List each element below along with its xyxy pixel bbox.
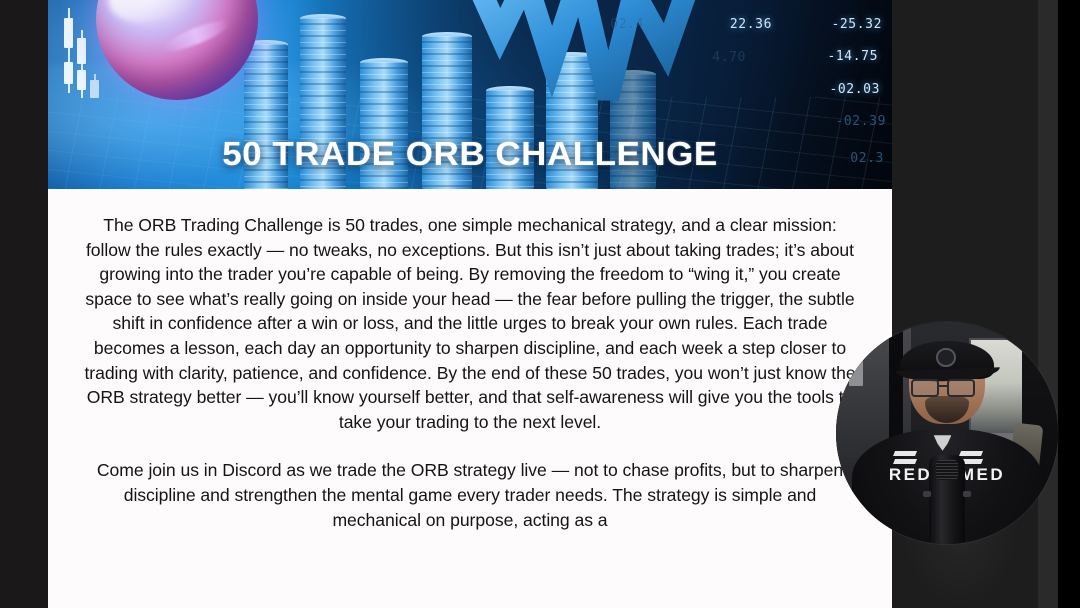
webcam-bubble[interactable]: REDEEMED [836,322,1058,544]
ticker-value: 4.70 [712,50,746,65]
banner-title: 50 TRADE ORB CHALLENGE [48,135,892,173]
paragraph-discord: Come join us in Discord as we trade the … [82,458,858,532]
microphone-knob [963,491,972,498]
ticker-value: -02.03 [829,82,880,97]
document-body: The ORB Trading Challenge is 50 trades, … [48,189,892,532]
ticker-value: 02.4 [610,17,644,32]
webcam-shelf-object [849,355,862,386]
hero-banner: -25.32 -14.75 -02.03 -02.39 02.3 22.36 0… [48,0,892,189]
paragraph-intro: The ORB Trading Challenge is 50 trades, … [82,213,858,434]
webcam-glasses-bridge [939,385,948,387]
webcam-shirt-stripe [893,459,917,464]
ticker-value: 22.36 [730,17,772,32]
document-page: -25.32 -14.75 -02.03 -02.39 02.3 22.36 0… [48,0,892,608]
microphone-grille [936,460,958,480]
desktop-right-black [1058,0,1080,608]
webcam-glasses-right-lens [947,379,975,398]
ticker-value: -25.32 [831,17,882,32]
microphone-knob [923,491,932,498]
ticker-value: -14.75 [827,49,878,64]
webcam-shirt-stripe [959,451,983,456]
ticker-value: -02.39 [835,114,886,129]
webcam-glasses-left-lens [911,379,939,398]
webcam-shirt-stripe [893,451,917,456]
desktop-left-margin [0,0,48,608]
webcam-cap-logo-icon [936,348,956,368]
